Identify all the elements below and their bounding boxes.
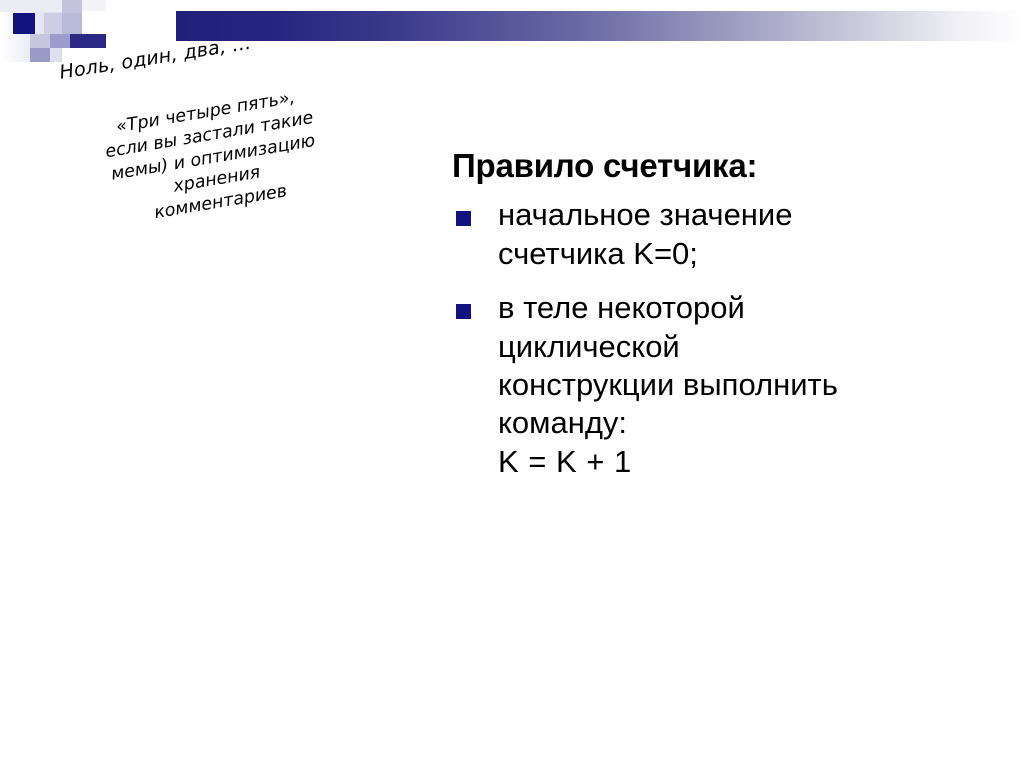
content-title: Правило счетчика: <box>452 148 992 184</box>
square-bullet-icon <box>456 304 471 319</box>
decor-lilac-square-b <box>62 13 82 34</box>
list-item-text: в теле некоторой циклической конструкции… <box>498 289 992 481</box>
slide-canvas: Ноль, один, два, … «Три четыре пять», ес… <box>0 0 1024 767</box>
list-item: начальное значение счетчика K=0; <box>452 196 992 273</box>
list-item-line: команду: <box>498 404 992 442</box>
decor-lilac-square-d <box>30 34 50 48</box>
left-annotation-body: «Три четыре пять», если вы застали такие… <box>46 75 380 240</box>
list-item-line: начальное значение <box>498 196 992 234</box>
list-item-line: счетчика K=0; <box>498 235 992 273</box>
rule-bullet-list: начальное значение счетчика K=0; в теле … <box>452 196 992 481</box>
decor-lilac-square-a <box>62 0 82 13</box>
square-bullet-icon <box>456 211 471 226</box>
list-item: в теле некоторой циклической конструкции… <box>452 289 992 481</box>
decor-lilac-square-c <box>44 13 62 34</box>
list-item-text: начальное значение счетчика K=0; <box>498 196 992 273</box>
counter-increment-expression: K = K + 1 <box>498 443 992 481</box>
decor-navy-square <box>13 13 35 34</box>
decor-blue-square-g <box>70 34 106 48</box>
left-annotation-pane: Ноль, один, два, … «Три четыре пять», ес… <box>30 50 410 310</box>
list-item-line: конструкции выполнить <box>498 366 992 404</box>
decor-pale-square <box>82 0 106 11</box>
list-item-line: в теле некоторой <box>498 289 992 327</box>
main-content-pane: Правило счетчика: начальное значение сче… <box>452 148 992 497</box>
decor-lilac-square-e <box>50 34 70 48</box>
list-item-line: циклической <box>498 328 992 366</box>
